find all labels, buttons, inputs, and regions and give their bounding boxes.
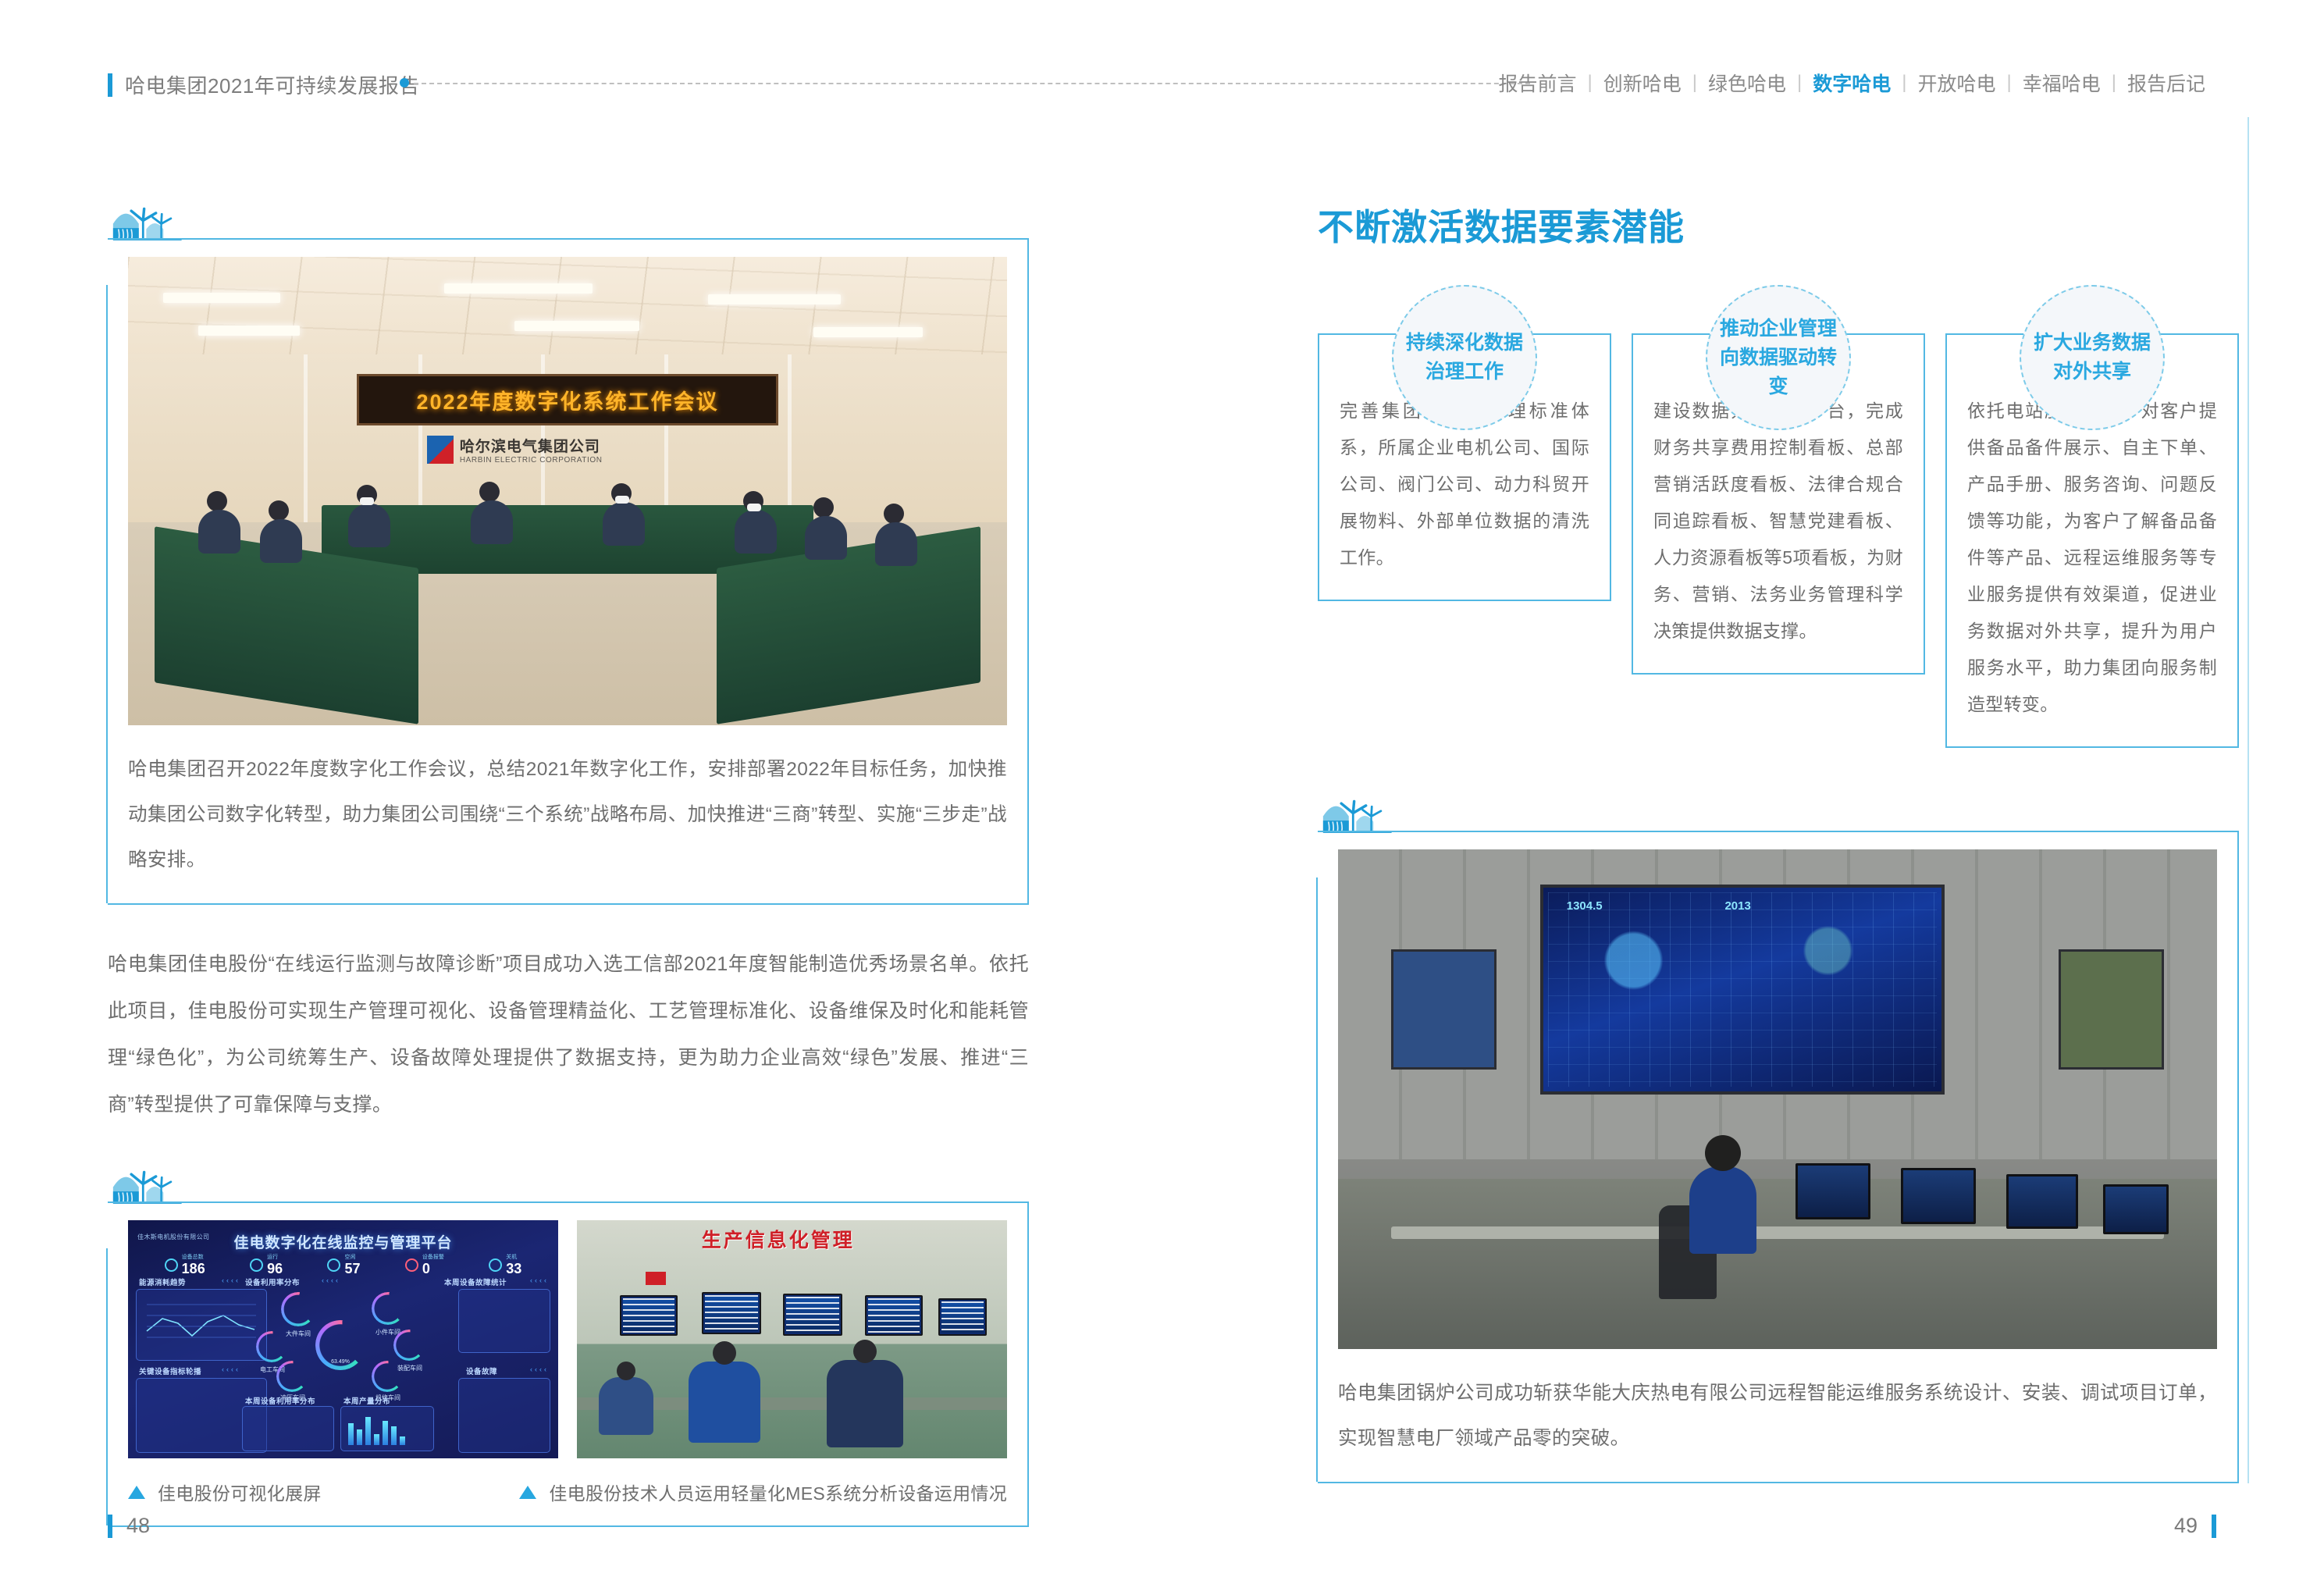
shutdown-icon (489, 1258, 502, 1272)
gauge-center-value: 63.49% (314, 1359, 367, 1365)
header-dashed-rule (414, 83, 1530, 84)
twin-caption-row: 佳电股份可视化展屏 佳电股份技术人员运用轻量化MES系统分析设备运用情况 (128, 1461, 1007, 1505)
kpi-label: 设备总数 (182, 1255, 205, 1260)
nav-item-0[interactable]: 报告前言 (1487, 69, 1587, 97)
kpi-value: 0 (422, 1262, 444, 1276)
corporate-logo: 哈尔滨电气集团公司 HARBIN ELECTRIC CORPORATION (427, 435, 603, 465)
triangle-marker-icon (519, 1486, 536, 1499)
panel-title-energy: 能源消耗趋势 (139, 1276, 186, 1287)
kpi-label: 设备报警 (422, 1255, 444, 1260)
kpi-label: 关机 (506, 1255, 521, 1260)
page-number-left: 48 (126, 1514, 150, 1538)
meeting-photo-frame: 2022年度数字化系统工作会议 哈尔滨电气集团公司 HARBIN ELECTRI… (108, 238, 1029, 905)
chevron-left-icon: ‹‹‹‹ (222, 1365, 240, 1373)
twin-photo-row: 佳木斯电机股份有限公司 佳电数字化在线监控与管理平台 设备总数 186 运行 9… (128, 1220, 1007, 1458)
report-title: 哈电集团2021年可持续发展报告 (125, 70, 420, 99)
idle-icon (327, 1258, 340, 1272)
nav-item-2[interactable]: 绿色哈电 (1697, 69, 1797, 97)
side-display-right (2059, 949, 2164, 1070)
dashboard-kpi-row: 设备总数 186 运行 96 空闲 57 设备报警 0 (128, 1255, 558, 1276)
device-total-icon (165, 1258, 178, 1272)
meeting-room-photo: 2022年度数字化系统工作会议 哈尔滨电气集团公司 HARBIN ELECTRI… (128, 257, 1007, 725)
kpi-label: 运行 (267, 1255, 283, 1260)
header-accent-bar (108, 73, 112, 97)
section-title: 不断激活数据要素潜能 (1318, 199, 2239, 251)
factory-mes-photo: 生产信息化管理 (577, 1220, 1007, 1458)
kpi-value: 33 (506, 1262, 521, 1276)
panel-title-fault-stats: 本周设备故障统计 (444, 1276, 507, 1287)
caption-left-block: 佳电股份可视化展屏 (128, 1479, 500, 1505)
panel-title-week-util: 本周设备利用率分布 (245, 1395, 315, 1406)
nav-item-4[interactable]: 开放哈电 (1906, 69, 2006, 97)
nav-item-3-active[interactable]: 数字哈电 (1802, 69, 1902, 97)
meeting-banner: 2022年度数字化系统工作会议 (357, 374, 778, 425)
panel-fault-list (458, 1378, 550, 1453)
screen-value-b: 2013 (1724, 899, 1750, 913)
twin-photo-frame: 佳木斯电机股份有限公司 佳电数字化在线监控与管理平台 设备总数 186 运行 9… (108, 1201, 1029, 1527)
nav-item-1[interactable]: 创新哈电 (1593, 69, 1692, 97)
card-data-sharing: 扩大业务数据对外共享 依托电站服务平台，对客户提供备品备件展示、自主下单、产品手… (1945, 285, 2239, 748)
meeting-photo-caption: 哈电集团召开2022年度数字化工作会议，总结2021年数字化工作，安排部署202… (128, 747, 1007, 883)
card-3-title: 扩大业务数据对外共享 (2034, 329, 2151, 386)
kpi-item: 运行 96 (250, 1255, 283, 1276)
gauge-5 (393, 1330, 425, 1361)
left-page-column: 2022年度数字化系统工作会议 哈尔滨电气集团公司 HARBIN ELECTRI… (108, 199, 1029, 1527)
panel-title-key-index: 关键设备指标轮播 (139, 1365, 201, 1376)
dashboard-caption: 佳电股份可视化展屏 (158, 1479, 322, 1505)
side-display-left (1391, 949, 1497, 1070)
factory-banner-text: 生产信息化管理 (702, 1230, 855, 1251)
energy-line-chart (142, 1295, 261, 1355)
capability-cards: 持续深化数据治理工作 完善集团主数据治理标准体系，所属企业电机公司、国际公司、阀… (1318, 285, 2239, 748)
footer-left: 48 (108, 1514, 150, 1538)
seated-operator (1689, 1166, 1756, 1254)
gauge-1 (281, 1292, 315, 1326)
card-1-circle: 持续深化数据治理工作 (1392, 285, 1537, 430)
control-room-caption: 哈电集团锅炉公司成功斩获华能大庆热电有限公司远程智能运维服务系统设计、安装、调试… (1338, 1371, 2217, 1461)
section-nav[interactable]: 报告前言 | 创新哈电 | 绿色哈电 | 数字哈电 | 开放哈电 | 幸福哈电 … (1487, 69, 2216, 97)
card-2-body: 建设数据共享交换平台，完成财务共享费用控制看板、总部营销活跃度看板、法律合规合同… (1653, 393, 1903, 650)
control-room-frame: 1304.5 2013 哈电集团锅炉公司成功斩获华能大庆热电有限公司远程智能运维… (1318, 831, 2239, 1483)
chevron-left-icon: ‹‹‹‹ (222, 1276, 240, 1284)
panel-title-week-output: 本周产量分布 (343, 1395, 390, 1406)
panel-title-fault: 设备故障 (466, 1365, 497, 1376)
page-right-rule (2247, 117, 2249, 1483)
card-1-title: 持续深化数据治理工作 (1406, 329, 1523, 386)
page-header: 哈电集团2021年可持续发展报告 报告前言 | 创新哈电 | 绿色哈电 | 数字… (0, 66, 2324, 112)
chevron-left-icon: ‹‹‹‹ (322, 1276, 340, 1284)
control-room-photo: 1304.5 2013 (1338, 849, 2217, 1349)
gauge-6 (372, 1361, 403, 1392)
main-video-wall (1540, 885, 1945, 1095)
card-2-title: 推动企业管理向数据驱动转变 (1720, 315, 1837, 401)
factory-caption: 佳电股份技术人员运用轻量化MES系统分析设备运用情况 (549, 1479, 1007, 1505)
kpi-value: 186 (182, 1262, 205, 1276)
meeting-banner-text: 2022年度数字化系统工作会议 (416, 385, 718, 415)
dashboard-screen-photo: 佳木斯电机股份有限公司 佳电数字化在线监控与管理平台 设备总数 186 运行 9… (128, 1220, 558, 1458)
card-data-driven-management: 推动企业管理向数据驱动转变 建设数据共享交换平台，完成财务共享费用控制看板、总部… (1632, 285, 1925, 675)
chevron-left-icon: ‹‹‹‹ (530, 1365, 549, 1373)
panel-title-utilization: 设备利用率分布 (245, 1276, 300, 1287)
kpi-item: 设备报警 0 (405, 1255, 444, 1276)
page-accent-bar-right (2212, 1515, 2216, 1538)
page-number-right: 49 (2174, 1514, 2198, 1538)
kpi-label: 空闲 (344, 1255, 360, 1260)
header-dot-marker (400, 78, 409, 87)
logo-english-name: HARBIN ELECTRIC CORPORATION (460, 456, 603, 465)
footer-right: 49 (2174, 1514, 2216, 1538)
card-3-body: 依托电站服务平台，对客户提供备品备件展示、自主下单、产品手册、服务咨询、问题反馈… (1967, 393, 2217, 723)
kpi-item: 空闲 57 (327, 1255, 360, 1276)
factory-banner: 生产信息化管理 (702, 1225, 952, 1264)
running-icon (250, 1258, 263, 1272)
panel-week-util (242, 1406, 334, 1451)
card-2-circle: 推动企业管理向数据驱动转变 (1706, 285, 1851, 430)
alarm-icon (405, 1258, 418, 1272)
page-accent-bar-left (108, 1515, 112, 1538)
card-3-circle: 扩大业务数据对外共享 (2020, 285, 2165, 430)
triangle-marker-icon (128, 1486, 145, 1499)
logo-mark-icon (427, 436, 454, 464)
header-left: 哈电集团2021年可持续发展报告 (108, 70, 420, 99)
screen-value-a: 1304.5 (1567, 899, 1603, 913)
chevron-left-icon: ‹‹‹‹ (530, 1276, 549, 1284)
kpi-item: 设备总数 186 (165, 1255, 205, 1276)
gauge-3 (276, 1361, 308, 1392)
week-output-bars (348, 1414, 405, 1445)
nav-item-5[interactable]: 幸福哈电 (2012, 69, 2112, 97)
right-page-column: 不断激活数据要素潜能 持续深化数据治理工作 完善集团主数据治理标准体系，所属企业… (1318, 199, 2239, 1483)
kpi-item: 关机 33 (489, 1255, 521, 1276)
card-data-governance: 持续深化数据治理工作 完善集团主数据治理标准体系，所属企业电机公司、国际公司、阀… (1318, 285, 1611, 601)
kpi-value: 96 (267, 1262, 283, 1276)
kpi-value: 57 (344, 1262, 360, 1276)
gauge-2 (256, 1331, 287, 1362)
logo-chinese-name: 哈尔滨电气集团公司 (460, 435, 603, 456)
report-spread: 哈电集团2021年可持续发展报告 报告前言 | 创新哈电 | 绿色哈电 | 数字… (0, 0, 2324, 1577)
panel-fault-stats (458, 1289, 550, 1353)
left-body-paragraph: 哈电集团佳电股份“在线运行监测与故障诊断”项目成功入选工信部2021年度智能制造… (108, 941, 1029, 1128)
gauge-4 (372, 1292, 404, 1325)
nav-item-6[interactable]: 报告后记 (2116, 69, 2216, 97)
dashboard-title: 佳电数字化在线监控与管理平台 (233, 1231, 452, 1252)
caption-right-block: 佳电股份技术人员运用轻量化MES系统分析设备运用情况 (519, 1479, 1007, 1505)
